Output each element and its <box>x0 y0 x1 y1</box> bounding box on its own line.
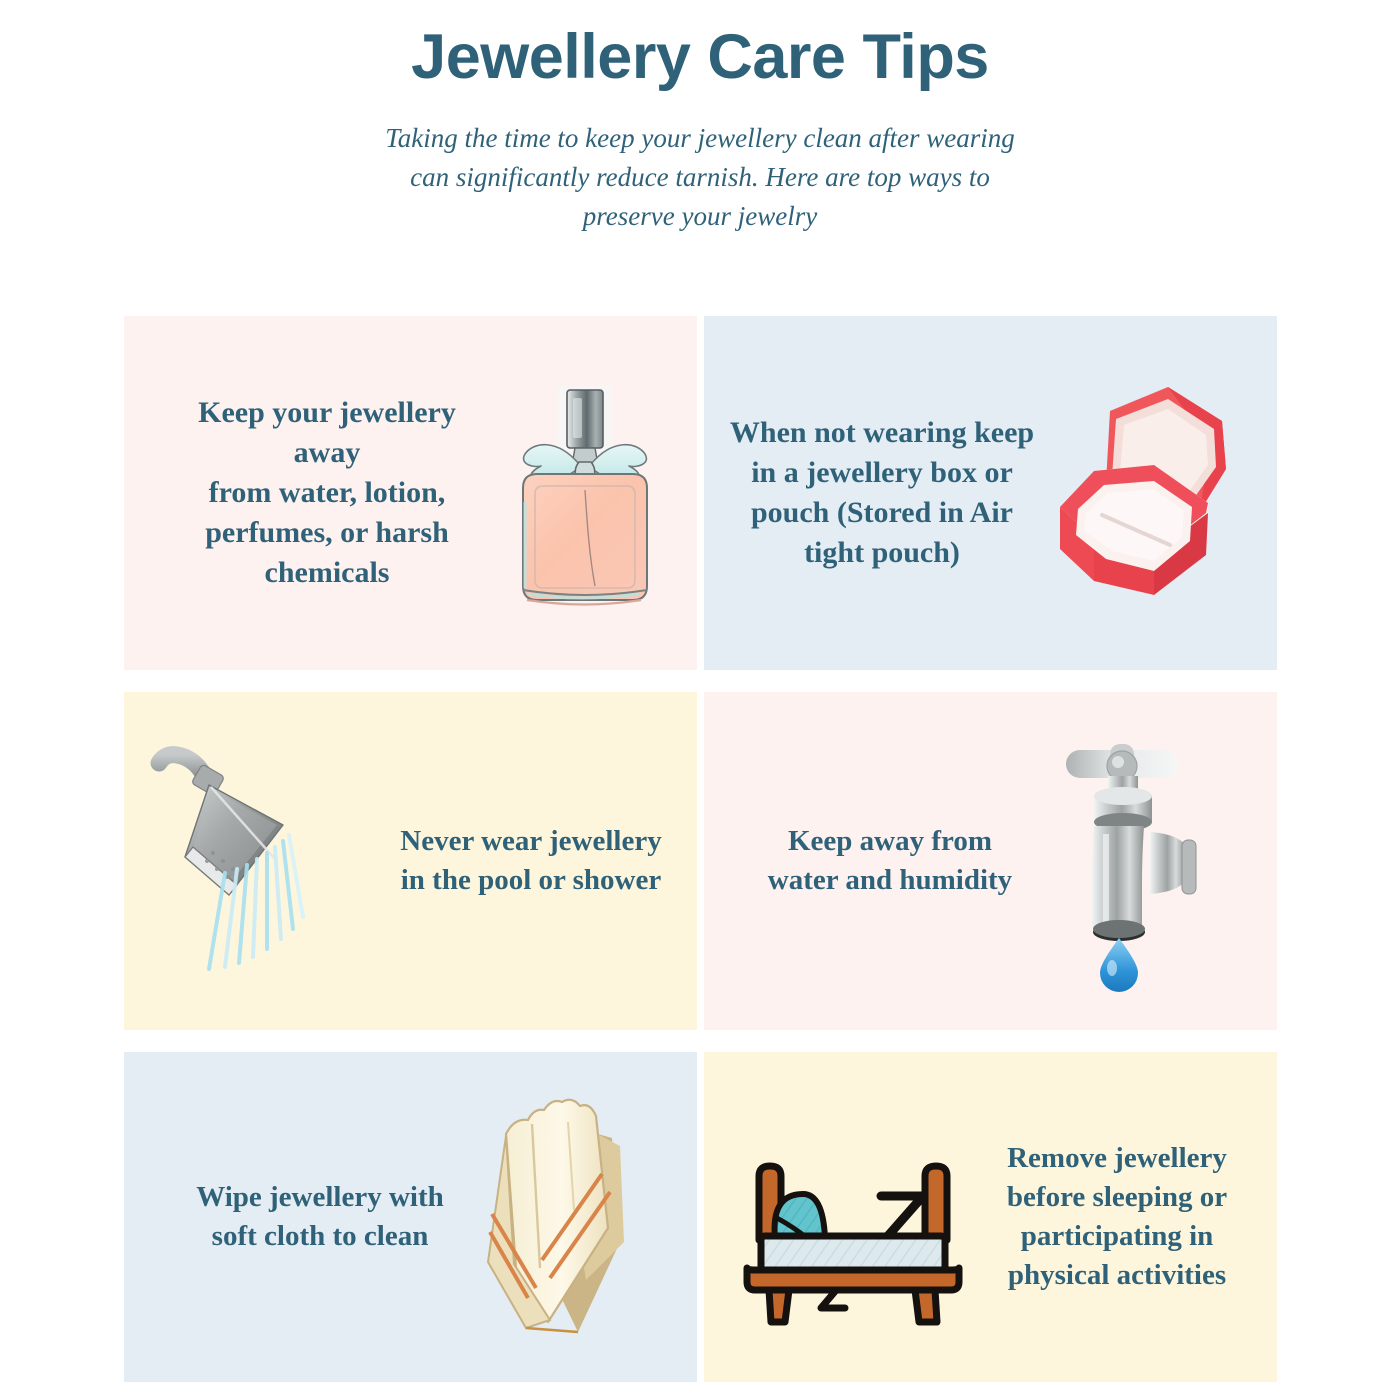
perfume-bottle-icon <box>499 368 669 618</box>
ring-box-icon <box>1050 373 1250 613</box>
tip-text: Keep away from water and humidity <box>754 822 1026 900</box>
tip-card-avoid-water-humidity: Keep away from water and humidity <box>704 692 1277 1030</box>
tip-text: Never wear jewellery in the pool or show… <box>387 822 675 900</box>
tip-text: Keep your jewellery away from water, lot… <box>162 393 492 594</box>
tip-card-wipe-with-soft-cloth: Wipe jewellery with soft cloth to clean <box>124 1052 697 1382</box>
tip-illustration <box>492 316 697 670</box>
tip-card-no-pool-or-shower: Never wear jewellery in the pool or show… <box>124 692 697 1030</box>
page-subtitle: Taking the time to keep your jewellery c… <box>380 119 1020 236</box>
tip-illustration <box>468 1052 697 1382</box>
tip-text: Wipe jewellery with soft cloth to clean <box>172 1178 468 1256</box>
faucet-icon <box>1032 736 1232 986</box>
tip-card-store-in-jewellery-box: When not wearing keep in a jewellery box… <box>704 316 1277 670</box>
tip-text: When not wearing keep in a jewellery box… <box>726 413 1038 574</box>
tip-card-remove-before-sleeping: Remove jewellery before sleeping or part… <box>704 1052 1277 1382</box>
tip-illustration <box>124 692 387 1030</box>
infographic-page: Jewellery Care Tips Taking the time to k… <box>0 0 1400 1400</box>
tip-illustration <box>704 1052 981 1382</box>
tip-card-keep-away-from-chemicals: Keep your jewellery away from water, lot… <box>124 316 697 670</box>
tips-grid: Keep your jewellery away from water, lot… <box>124 316 1277 1382</box>
towel-icon <box>470 1092 655 1342</box>
page-title: Jewellery Care Tips <box>0 22 1400 93</box>
tip-illustration <box>1038 316 1277 670</box>
shower-head-icon <box>151 741 371 981</box>
tip-text: Remove jewellery before sleeping or part… <box>981 1139 1253 1294</box>
bed-zzz-icon <box>725 1110 975 1325</box>
tip-illustration <box>1026 692 1277 1030</box>
header: Jewellery Care Tips Taking the time to k… <box>0 0 1400 236</box>
